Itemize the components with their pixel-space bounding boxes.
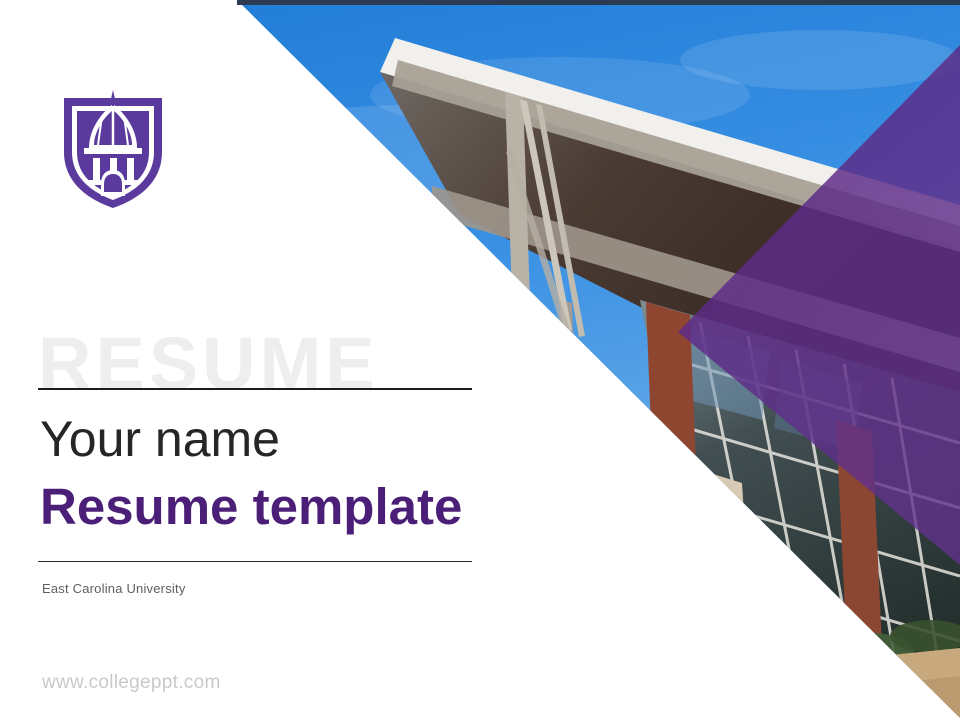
title-content-column: RESUME Your name Resume template East Ca… bbox=[0, 0, 560, 720]
divider-top bbox=[38, 388, 472, 390]
shield-logo-svg bbox=[58, 88, 168, 210]
page-title-name: Your name bbox=[40, 411, 280, 467]
organization-label: East Carolina University bbox=[42, 581, 186, 596]
page-subtitle-template: Resume template bbox=[40, 478, 462, 535]
purple-overlay-shape bbox=[678, 45, 960, 565]
divider-bottom bbox=[38, 561, 472, 562]
slide-canvas: RESUME Your name Resume template East Ca… bbox=[0, 0, 960, 720]
east-carolina-university-shield-icon bbox=[58, 88, 168, 210]
footer-website-url: www.collegeppt.com bbox=[42, 672, 221, 694]
